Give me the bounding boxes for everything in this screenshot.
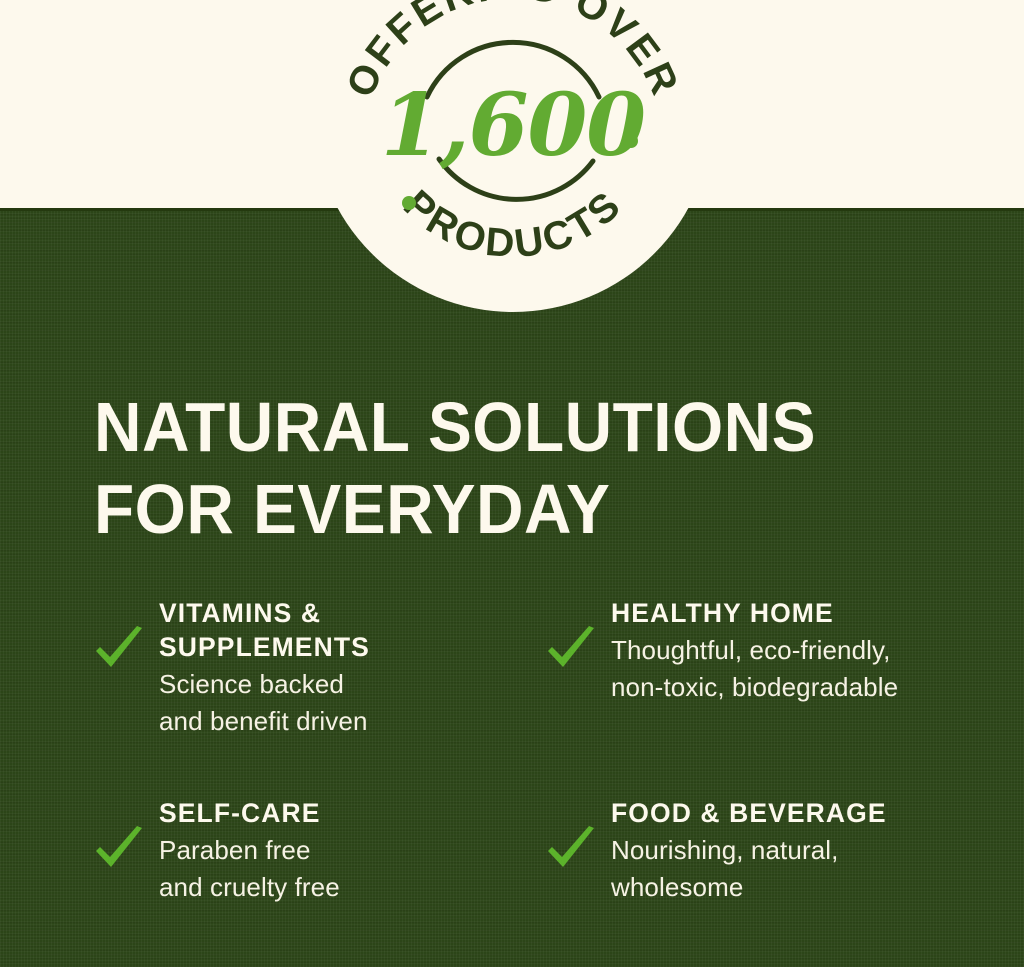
check-icon <box>545 826 597 872</box>
feature-description: Science backed and benefit driven <box>159 666 370 740</box>
feature-title: FOOD & BEVERAGE <box>611 796 887 830</box>
feature-text: FOOD & BEVERAGE Nourishing, natural, who… <box>611 796 887 906</box>
feature-item-healthy-home: HEALTHY HOME Thoughtful, eco-friendly, n… <box>542 596 990 796</box>
check-icon <box>545 626 597 672</box>
products-count-seal: OFFERING OVER PRODUCTS 1,600 <box>313 0 713 312</box>
feature-title: VITAMINS & SUPPLEMENTS <box>159 596 370 664</box>
feature-title: SELF-CARE <box>159 796 340 830</box>
feature-text: SELF-CARE Paraben free and cruelty free <box>159 796 340 906</box>
check-icon <box>93 626 145 672</box>
feature-item-vitamins-supplements: VITAMINS & SUPPLEMENTS Science backed an… <box>90 596 542 796</box>
feature-description: Nourishing, natural, wholesome <box>611 832 887 906</box>
seal-bottom-arc-text: PRODUCTS <box>395 182 630 266</box>
feature-description: Thoughtful, eco-friendly, non-toxic, bio… <box>611 632 898 706</box>
promotional-banner: OFFERING OVER PRODUCTS 1,600 NATURAL SOL… <box>0 0 1024 967</box>
seal-number: 1,600 <box>381 75 645 176</box>
feature-title: HEALTHY HOME <box>611 596 898 630</box>
seal-dot-left <box>402 196 416 210</box>
seal-graphic: OFFERING OVER PRODUCTS 1,600 <box>313 0 713 312</box>
feature-list: VITAMINS & SUPPLEMENTS Science backed an… <box>90 596 990 906</box>
feature-text: VITAMINS & SUPPLEMENTS Science backed an… <box>159 596 370 740</box>
check-icon <box>93 826 145 872</box>
feature-description: Paraben free and cruelty free <box>159 832 340 906</box>
feature-item-food-beverage: FOOD & BEVERAGE Nourishing, natural, who… <box>542 796 990 906</box>
feature-item-self-care: SELF-CARE Paraben free and cruelty free <box>90 796 542 906</box>
feature-text: HEALTHY HOME Thoughtful, eco-friendly, n… <box>611 596 898 706</box>
page-title: NATURAL SOLUTIONS FOR EVERYDAY <box>94 386 921 550</box>
